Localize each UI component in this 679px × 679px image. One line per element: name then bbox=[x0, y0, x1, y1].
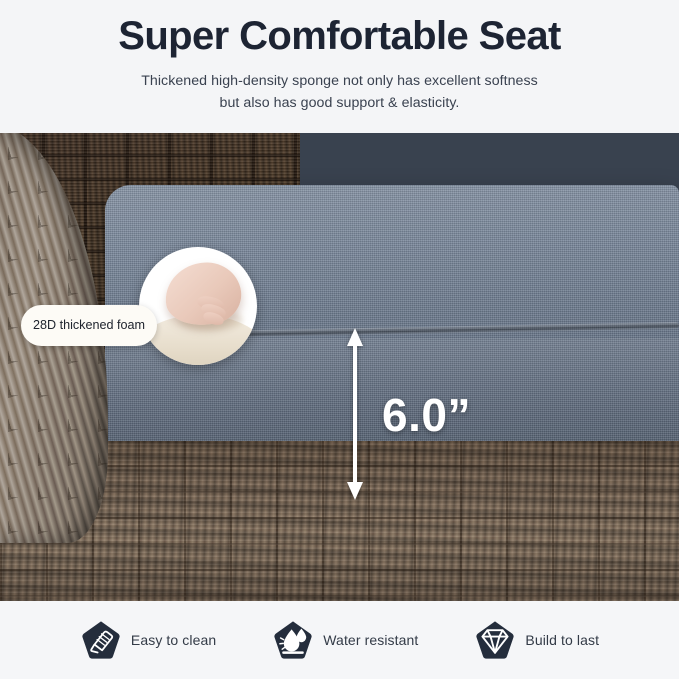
page-subtitle: Thickened high-density sponge not only h… bbox=[141, 70, 538, 114]
feature-easy-to-clean: Easy to clean bbox=[80, 619, 216, 661]
subtitle-line-1: Thickened high-density sponge not only h… bbox=[141, 73, 538, 89]
page-title: Super Comfortable Seat bbox=[118, 14, 560, 59]
foam-callout-label: 28D thickened foam bbox=[21, 305, 157, 346]
dimension-value: 6.0” bbox=[382, 388, 471, 442]
dimension-arrow-icon bbox=[344, 328, 366, 500]
diamond-icon bbox=[474, 619, 516, 661]
subtitle-line-2: but also has good support & elasticity. bbox=[141, 92, 538, 114]
feature-label: Water resistant bbox=[323, 632, 418, 648]
water-drop-icon bbox=[272, 619, 314, 661]
cleaning-hand-icon bbox=[80, 619, 122, 661]
feature-bar: Easy to clean Water resistant Bui bbox=[0, 601, 679, 679]
feature-build-to-last: Build to last bbox=[474, 619, 599, 661]
product-photo: 28D thickened foam 6.0” bbox=[0, 133, 679, 601]
header-section: Super Comfortable Seat Thickened high-de… bbox=[0, 0, 679, 133]
product-infographic: Super Comfortable Seat Thickened high-de… bbox=[0, 0, 679, 679]
feature-water-resistant: Water resistant bbox=[272, 619, 418, 661]
feature-label: Easy to clean bbox=[131, 632, 216, 648]
feature-label: Build to last bbox=[525, 632, 599, 648]
foam-closeup-inset bbox=[139, 247, 257, 365]
